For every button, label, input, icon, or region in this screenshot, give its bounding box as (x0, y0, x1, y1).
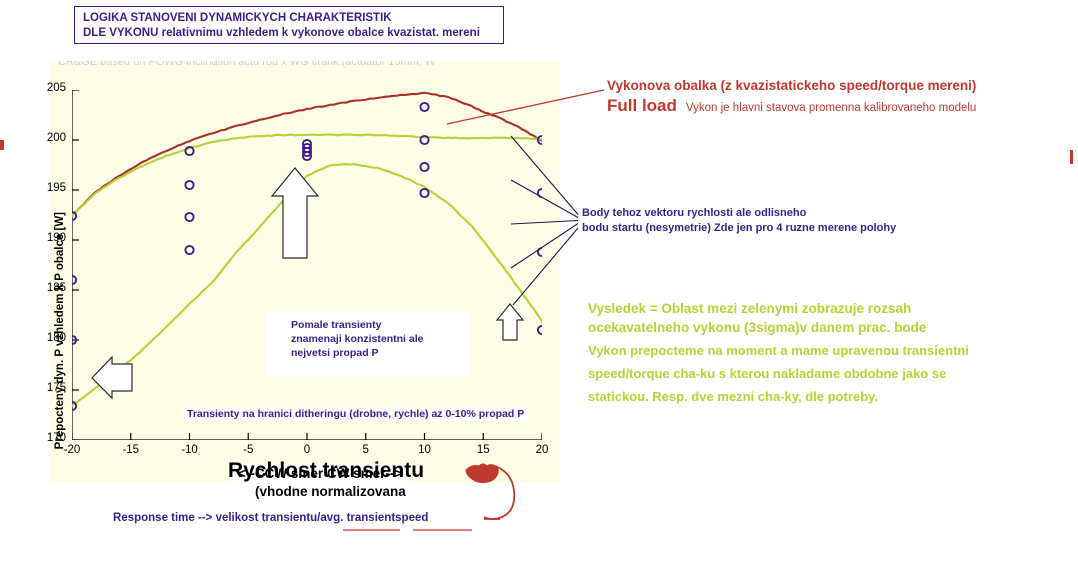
slow-transient-note-line1: Pomale transienty (291, 318, 462, 332)
dithering-note: Transienty na hranici ditheringu (drobne… (183, 407, 528, 421)
response-time-note: Response time --> velikost transientu/av… (113, 512, 428, 524)
result-annotation-line5: statickou. Resp. dve mezni cha-ky, dle p… (588, 387, 969, 406)
chart-canvas: CR&GE based on POWG inclination actu rod… (50, 62, 560, 482)
result-annotation: Vysledek = Oblast mezi zelenymi zobrazuj… (588, 299, 969, 406)
x-tick-label: -10 (175, 444, 205, 456)
y-tick-label: 200 (32, 132, 66, 144)
scatter-annotation: Body tehoz vektoru rychlosti ale odlisne… (582, 206, 896, 236)
x-axis-subtitle: (vhodne normalizovana (255, 484, 406, 499)
x-tick-label: 5 (351, 444, 381, 456)
header-title-line2: DLE VYKONU relativnimu vzhledem k vykono… (83, 26, 495, 41)
result-annotation-line1: Vysledek = Oblast mezi zelenymi zobrazuj… (588, 299, 969, 318)
x-tick-label: -15 (116, 444, 146, 456)
x-tick-label: 10 (410, 444, 440, 456)
header-title-box: LOGIKA STANOVENI DYNAMICKYCH CHARAKTERIS… (74, 6, 504, 44)
plot-svg (72, 90, 542, 440)
envelope-annotation-sub: Vykon je hlavni stavova promenna kalibro… (686, 102, 976, 114)
slow-transient-note: Pomale transienty znamenaji konzistentni… (265, 312, 470, 376)
envelope-annotation: Vykonova obalka (z kvazistatickeho speed… (607, 78, 1072, 116)
x-tick-label: 0 (292, 444, 322, 456)
x-tick-label: -5 (233, 444, 263, 456)
scatter-annotation-line1: Body tehoz vektoru rychlosti ale odlisne… (582, 206, 896, 221)
result-annotation-line3: Vykon prepocteme na moment a mame uprave… (588, 341, 969, 360)
x-axis-title: Rychlost transientu (228, 459, 424, 483)
result-annotation-line4: speed/torque cha-ku s kterou nakladame o… (588, 364, 969, 383)
stray-mark-left (0, 140, 4, 150)
header-title-line1: LOGIKA STANOVENI DYNAMICKYCH CHARAKTERIS… (83, 11, 495, 26)
scatter-annotation-line2: bodu startu (nesymetrie) Zde jen pro 4 r… (582, 221, 896, 236)
result-annotation-line2: ocekavatelneho vykonu (3sigma)v danem pr… (588, 318, 969, 337)
y-tick-label: 195 (32, 182, 66, 194)
y-axis-label: Prepocteny dyn. P vzhledem k P obalce [W… (54, 212, 70, 449)
plot-region: 205200195190185180175170-20-15-10-505101… (72, 90, 542, 440)
slow-transient-note-line3: nejvetsi propad P (291, 346, 462, 360)
envelope-annotation-line1: Vykonova obalka (z kvazistatickeho speed… (607, 78, 1072, 93)
stray-mark-right (1070, 150, 1073, 164)
full-load-label: Full load (607, 96, 677, 116)
slow-transient-note-line2: znamenaji konzistentni ale (291, 332, 462, 346)
chart-clipped-title: CR&GE based on POWG inclination actu rod… (58, 61, 558, 71)
y-tick-label: 205 (32, 82, 66, 94)
x-tick-label: 20 (527, 444, 557, 456)
x-tick-label: 15 (468, 444, 498, 456)
